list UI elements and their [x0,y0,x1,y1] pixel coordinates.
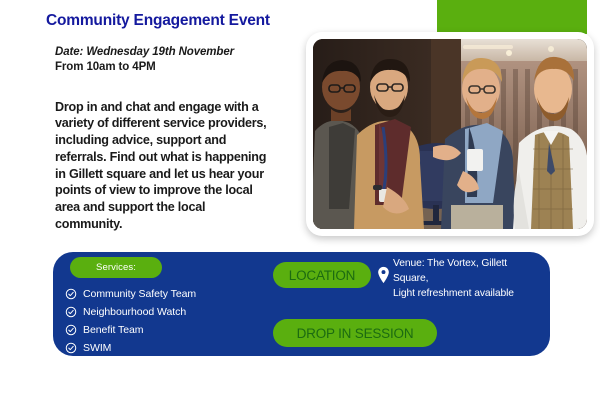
event-photo-frame [306,32,594,236]
venue-line: Venue: The Vortex, Gillett [393,257,553,272]
list-item: Neighbourhood Watch [65,303,196,320]
list-item: Community Safety Team [65,285,196,302]
location-badge: LOCATION [273,262,371,288]
venue-details: Venue: The Vortex, Gillett Square, Light… [393,257,553,302]
event-text-column: Community Engagement Event Date: Wednesd… [46,12,301,233]
service-label: Benefit Team [83,324,144,336]
event-description: Drop in and chat and engage with a varie… [55,99,270,233]
check-circle-icon [65,324,77,336]
event-date: Date: Wednesday 19th November [55,45,301,61]
list-item: SWIM [65,339,196,356]
map-pin-icon [377,266,390,284]
check-circle-icon [65,342,77,354]
info-panel: Services: Community Safety Team Neighbou… [53,252,550,356]
services-list: Community Safety Team Neighbourhood Watc… [65,285,196,357]
event-photo-illustration [313,39,587,229]
page-title: Community Engagement Event [46,12,301,31]
services-label-pill: Services: [70,257,162,278]
service-label: SWIM [83,342,111,354]
venue-line: Square, [393,272,553,287]
list-item: Benefit Team [65,321,196,338]
venue-line: Light refreshment available [393,287,553,302]
service-label: Community Safety Team [83,288,196,300]
check-circle-icon [65,288,77,300]
drop-in-session-badge: DROP IN SESSION [273,319,437,347]
event-time: From 10am to 4PM [55,60,301,76]
check-circle-icon [65,306,77,318]
service-label: Neighbourhood Watch [83,306,186,318]
event-photo [313,39,587,229]
accent-block-top-right [437,0,587,34]
